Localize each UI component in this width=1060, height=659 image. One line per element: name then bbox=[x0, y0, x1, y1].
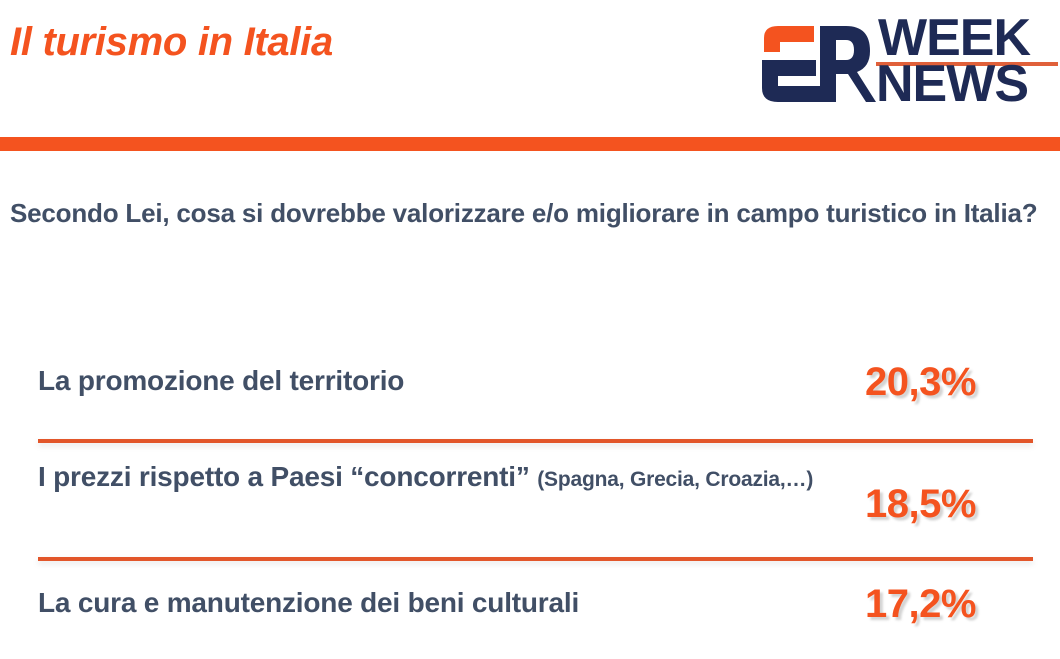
page-title: Il turismo in Italia bbox=[10, 20, 333, 65]
result-value: 20,3% bbox=[865, 360, 976, 404]
result-label-main: La cura e manutenzione dei beni cultural… bbox=[38, 587, 579, 618]
result-label-sub: (Spagna, Grecia, Croazia,…) bbox=[537, 468, 813, 491]
er-week-news-logo: WEEK NEWS bbox=[758, 10, 1060, 115]
logo-wordmark: WEEK NEWS bbox=[876, 10, 1060, 115]
header-accent-band bbox=[0, 137, 1060, 151]
result-value: 17,2% bbox=[865, 582, 976, 626]
result-label-main: La promozione del territorio bbox=[38, 365, 404, 396]
question-text: Secondo Lei, cosa si dovrebbe valorizzar… bbox=[10, 194, 1060, 232]
result-row: La cura e manutenzione dei beni cultural… bbox=[0, 568, 1060, 648]
result-row: La promozione del territorio 20,3% bbox=[0, 352, 1060, 446]
er-monogram-icon bbox=[758, 18, 876, 108]
result-label: I prezzi rispetto a Paesi “concorrenti” … bbox=[38, 460, 838, 496]
row-divider bbox=[38, 439, 1033, 443]
result-label-main: I prezzi rispetto a Paesi “concorrenti” bbox=[38, 461, 537, 492]
result-row: I prezzi rispetto a Paesi “concorrenti” … bbox=[0, 446, 1060, 568]
slide-header: Il turismo in Italia WEEK NEWS bbox=[0, 0, 1060, 137]
row-divider bbox=[38, 557, 1033, 561]
logo-word-news: NEWS bbox=[876, 60, 1028, 108]
result-value: 18,5% bbox=[865, 482, 976, 526]
result-label: La promozione del territorio bbox=[38, 364, 404, 400]
results-list: La promozione del territorio 20,3% I pre… bbox=[0, 352, 1060, 648]
result-label: La cura e manutenzione dei beni cultural… bbox=[38, 586, 579, 622]
